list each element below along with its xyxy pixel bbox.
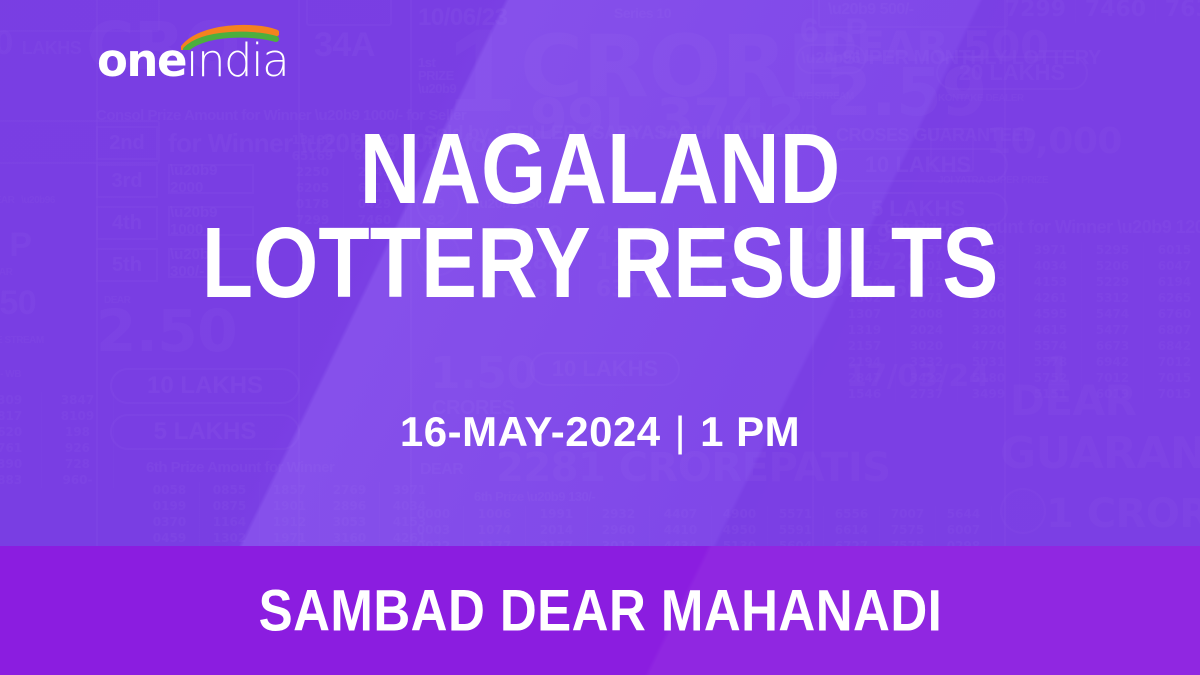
draw-datetime: 16-MAY-2024|1 PM: [0, 408, 1200, 456]
headline-line-1: NAGALAND: [96, 122, 1104, 216]
datetime-separator: |: [661, 408, 700, 456]
draw-date: 16-MAY-2024: [400, 408, 661, 455]
page-title: NAGALAND LOTTERY RESULTS: [0, 122, 1200, 310]
headline-line-2: LOTTERY RESULTS: [96, 216, 1104, 310]
lottery-name-text: SAMBAD DEAR MAHANADI: [258, 577, 942, 644]
logo-text-one: one: [97, 34, 186, 87]
lottery-name-banner: SAMBAD DEAR MAHANADI: [0, 546, 1200, 675]
logo-text-india: india: [186, 34, 288, 87]
lottery-name: SAMBAD DEAR MAHANADI: [0, 577, 1200, 644]
lottery-result-banner: 50 LAKHS DEAR \u20b96 6 P DEAR 2.50 LIVE…: [0, 0, 1200, 675]
oneindia-logo[interactable]: oneindia: [97, 38, 288, 96]
draw-time: 1 PM: [700, 408, 800, 455]
